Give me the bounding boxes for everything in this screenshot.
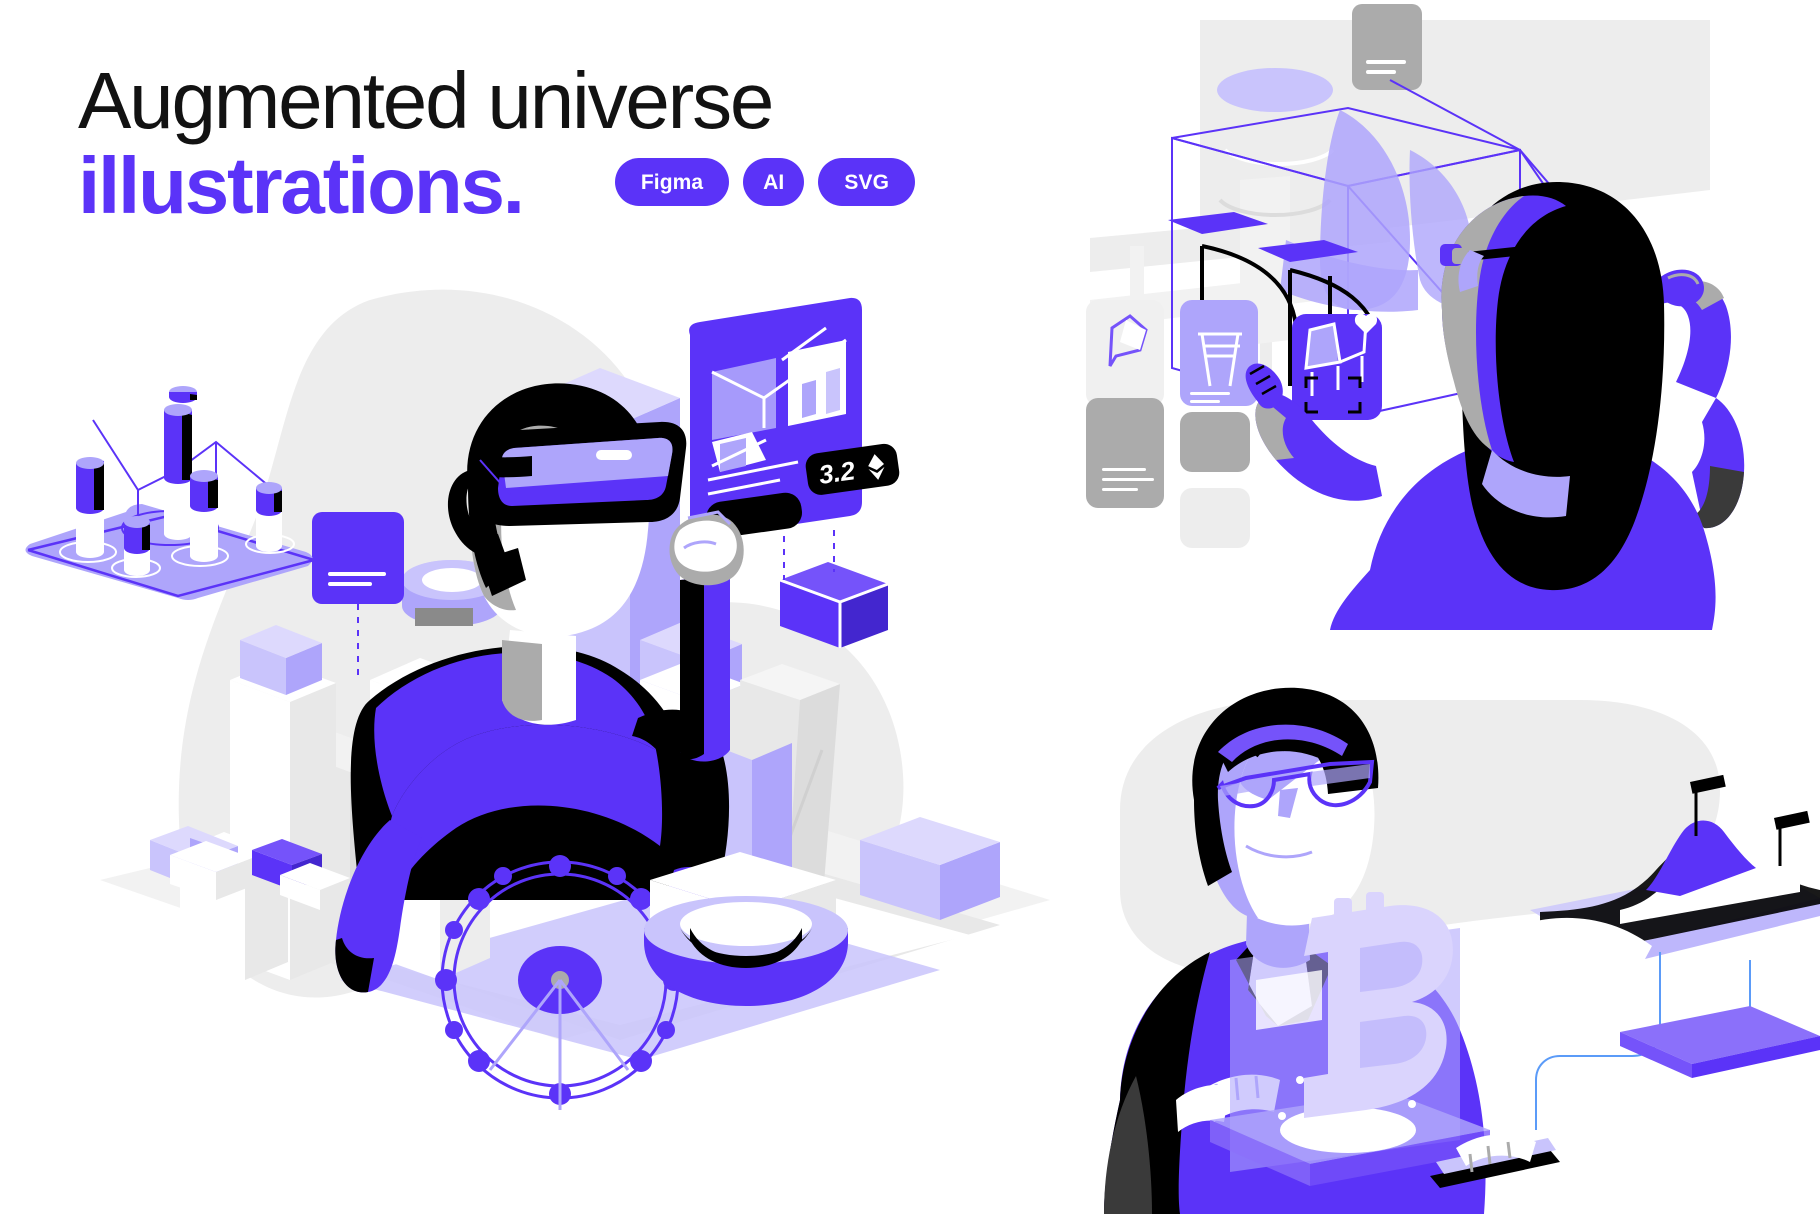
hologram-slab [1620, 1006, 1820, 1078]
furniture-card-grey-3[interactable] [1180, 488, 1250, 548]
format-badge-group: Figma AI SVG [615, 158, 915, 206]
furniture-card-list [1086, 300, 1382, 548]
page-title-line-2-text: illustrations. [78, 146, 523, 226]
furniture-card-grey-1[interactable] [1086, 398, 1164, 508]
illustration-crypto-hologram [1060, 660, 1820, 1214]
purple-bowl-widget [644, 852, 848, 1006]
ar-panel-value: 3.2 [817, 455, 858, 490]
page-title-line-1: Augmented universe [78, 62, 1078, 140]
page-title-line-2: illustrations. Figma AI SVG [78, 146, 1078, 226]
ceiling-lamp [1217, 68, 1333, 112]
illustration-isometric-bar-chart [18, 370, 338, 610]
chart-bar [76, 457, 104, 558]
chart-detached-cap [169, 386, 197, 403]
furniture-card-chair[interactable] [1292, 314, 1382, 420]
hand-gesture [670, 512, 744, 585]
header: Augmented universe illustrations. Figma … [78, 62, 1078, 226]
pill-svg[interactable]: SVG [818, 158, 915, 206]
chart-bar [164, 404, 192, 540]
furniture-card-grey-2[interactable] [1180, 412, 1250, 472]
poster-canvas: Augmented universe illustrations. Figma … [0, 0, 1820, 1214]
floating-cube [780, 530, 888, 648]
chart-bar [190, 470, 218, 562]
chart-bar [256, 482, 282, 552]
illustration-ar-furniture-shopping [1090, 10, 1820, 630]
furniture-card-lamp[interactable] [1086, 300, 1164, 406]
chart-bar [124, 516, 150, 576]
pill-figma[interactable]: Figma [615, 158, 729, 206]
pill-ai[interactable]: AI [743, 158, 804, 206]
furniture-card-stool[interactable] [1180, 300, 1258, 406]
